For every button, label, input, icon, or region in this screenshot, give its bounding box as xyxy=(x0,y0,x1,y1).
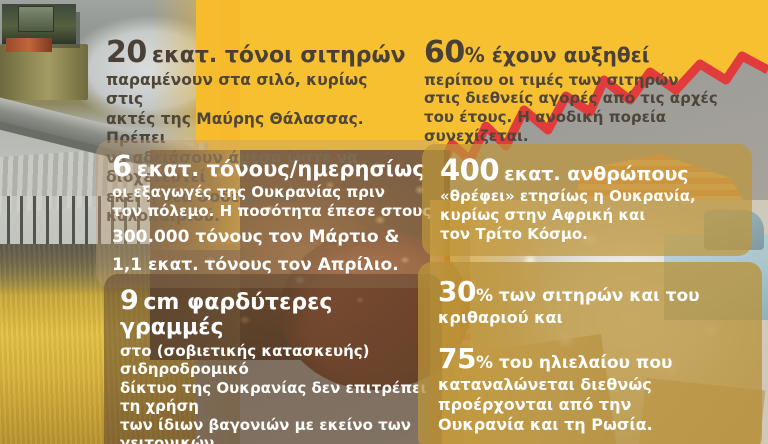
fact-body-line: των ίδιων βαγονιών με εκείνο των γειτονι… xyxy=(120,416,430,444)
fact-body-line: τον πόλεμο. Η ποσότητα έπεσε στους xyxy=(112,202,432,221)
fact-number: 75 xyxy=(438,342,476,375)
fact-number: 30 xyxy=(438,275,476,308)
fact-emphasis-line: 300.000 τόνους τον Μάρτιο & xyxy=(112,227,432,248)
silo-machinery xyxy=(6,38,52,52)
fact-headline: 30% των σιτηρών και του xyxy=(438,276,750,307)
fact-unit: εκατ. τόνους/ημερησίως xyxy=(137,157,425,181)
fact-body-line: Ουκρανία και τη Ρωσία. xyxy=(438,415,750,435)
fact-body-line: στο (σοβιετικής κατασκευής) σιδηροδρομικ… xyxy=(120,342,430,379)
fact-headline: 75% του ηλιελαίου που xyxy=(438,343,750,374)
fact-body-line: στις διεθνείς αγορές από τις αρχές xyxy=(424,89,724,108)
fact-number: 9 xyxy=(120,285,138,316)
fact-number: 6 xyxy=(112,149,132,183)
fact-body-line: δίκτυο της Ουκρανίας δεν επιτρέπει τη χρ… xyxy=(120,379,430,416)
fact-headline: 9 cm φαρδύτερες γραμμές xyxy=(120,286,430,341)
fact-unit: % των σιτηρών και του xyxy=(476,286,700,306)
fact-body-line: κυρίως στην Αφρική και xyxy=(440,206,740,225)
fact-number: 60 xyxy=(424,35,465,70)
fact-card-6-mil-tons-daily: 6 εκατ. τόνους/ημερησίως οι εξαγωγές της… xyxy=(96,140,444,288)
fact-body-line: περίπου οι τιμές των σιτηρών xyxy=(424,71,724,90)
silo-cabin xyxy=(18,6,54,32)
fact-number: 400 xyxy=(440,153,499,187)
fact-number: 20 xyxy=(106,35,147,70)
fact-unit: % έχουν αυξηθεί xyxy=(465,43,650,67)
fact-body-line: οι εξαγωγές της Ουκρανίας πριν xyxy=(112,183,432,202)
fact-headline: 6 εκατ. τόνους/ημερησίως xyxy=(112,150,432,182)
fact-unit: % του ηλιελαίου που xyxy=(476,353,673,373)
fact-unit: εκατ. τόνοι σιτηρών xyxy=(152,43,406,68)
fact-body-line: «θρέφει» ετησίως η Ουκρανία, xyxy=(440,187,740,206)
silo-drum xyxy=(0,44,88,100)
fact-body-line: τον Τρίτο Κόσμο. xyxy=(440,225,740,244)
fact-card-9-cm-rail-gauge: 9 cm φαρδύτερες γραμμές στο (σοβιετικής … xyxy=(104,274,442,444)
fact-body-line: κριθαριού και xyxy=(438,308,750,328)
fact-unit: cm φαρδύτερες γραμμές xyxy=(120,290,332,340)
fact-card-60-percent-price-rise: 60% έχουν αυξηθεί περίπου οι τιμές των σ… xyxy=(424,36,724,146)
fact-unit: εκατ. ανθρώπους xyxy=(504,163,688,185)
fact-card-30-75-percent: 30% των σιτηρών και του κριθαριού και 75… xyxy=(418,262,762,444)
fact-card-400-mil-people: 400 εκατ. ανθρώπους «θρέφει» ετησίως η Ο… xyxy=(422,144,752,256)
infographic-canvas: 20 εκατ. τόνοι σιτηρών παραμένουν στα σι… xyxy=(0,0,768,444)
fact-body-line: προέρχονται από την xyxy=(438,395,750,415)
fact-emphasis-line: 1,1 εκατ. τόνους τον Απρίλιο. xyxy=(112,255,432,276)
fact-body-line: παραμένουν στα σιλό, κυρίως στις xyxy=(106,71,406,110)
fact-body-line: του έτους. Η ανοδική πορεία συνεχίζεται. xyxy=(424,108,724,146)
fact-headline: 20 εκατ. τόνοι σιτηρών xyxy=(106,36,406,70)
fact-headline: 400 εκατ. ανθρώπους xyxy=(440,154,740,186)
fact-body-line: καταναλώνεται διεθνώς xyxy=(438,375,750,395)
fact-headline: 60% έχουν αυξηθεί xyxy=(424,36,724,70)
